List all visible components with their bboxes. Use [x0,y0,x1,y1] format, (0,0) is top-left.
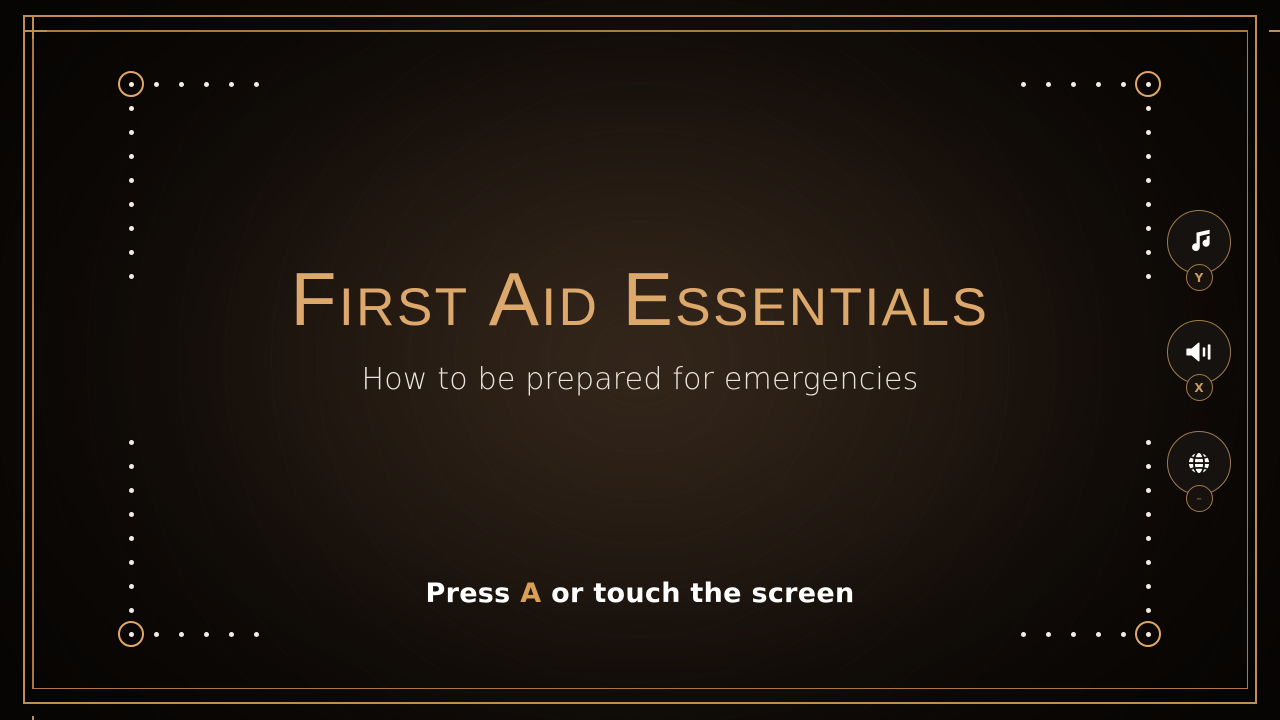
page-title: First Aid Essentials [0,262,1280,337]
dot-row-top-left-dot [254,82,259,87]
frame-outer-right-line [1255,15,1257,704]
dot-col-top-left-dot [129,130,134,135]
dot-col-bottom-left-dot [129,536,134,541]
press-start-prompt: Press A or touch the screen [0,578,1280,609]
dot-col-bottom-left-dot [129,512,134,517]
dot-col-top-right-dot [1146,202,1151,207]
dot-row-bottom-right-dot [1046,632,1051,637]
globe-icon [1184,448,1214,478]
speaker-volume-icon [1184,337,1214,367]
frame-inner-right-line [1247,30,1249,689]
dot-row-bottom-left-dot [154,632,159,637]
page-subtitle: How to be prepared for emergencies [0,362,1280,397]
frame-outer-top-line [23,15,1257,17]
dot-col-top-left-dot [129,154,134,159]
dot-col-top-right-dot [1146,274,1151,279]
background-ring-texture [0,0,1280,720]
ring-dot-top-left [129,82,134,87]
dot-row-bottom-left-dot [229,632,234,637]
title-screen[interactable]: First Aid Essentials How to be prepared … [0,0,1280,720]
music-note-icon [1184,227,1214,257]
dot-col-bottom-left-dot [129,608,134,613]
dot-row-top-left-dot [154,82,159,87]
frame-outer-left-line [23,15,25,704]
dot-row-bottom-left-dot [179,632,184,637]
dot-row-top-right-dot [1096,82,1101,87]
dot-row-bottom-left-dot [254,632,259,637]
dot-row-top-right-dot [1071,82,1076,87]
dot-col-top-right-dot [1146,106,1151,111]
dot-col-bottom-right-dot [1146,608,1151,613]
music-toggle-key-badge: Y [1186,264,1213,291]
prompt-key-a: A [520,578,541,609]
dot-col-top-right-dot [1146,226,1151,231]
dot-col-bottom-right-dot [1146,464,1151,469]
background-vignette [0,0,1280,720]
dot-col-top-left-dot [129,250,134,255]
dot-row-top-left-dot [179,82,184,87]
frame-corner-top-right [1257,15,1280,51]
frame-corner-bottom-right [1257,704,1280,720]
dot-col-top-right-dot [1146,250,1151,255]
language-select-key-badge: – [1186,485,1213,512]
dot-col-bottom-left-dot [129,584,134,589]
dot-row-top-left-dot [229,82,234,87]
dot-row-bottom-right-dot [1096,632,1101,637]
ring-dot-top-right [1146,82,1151,87]
dot-row-top-right-dot [1046,82,1051,87]
dot-row-top-right-dot [1021,82,1026,87]
dot-col-bottom-right-dot [1146,488,1151,493]
dot-col-top-left-dot [129,178,134,183]
dot-col-bottom-right-dot [1146,440,1151,445]
dot-col-bottom-right-dot [1146,584,1151,589]
prompt-suffix: or touch the screen [541,578,854,609]
dot-col-top-right-dot [1146,130,1151,135]
frame-inner-bottom-line [32,688,1248,690]
dot-row-bottom-right-dot [1021,632,1026,637]
dot-col-top-left-dot [129,226,134,231]
dot-col-bottom-right-dot [1146,512,1151,517]
dot-col-bottom-left-dot [129,464,134,469]
ring-dot-bottom-left [129,632,134,637]
frame-corner-top-left [23,15,59,51]
dot-col-top-left-dot [129,106,134,111]
frame-corner-bottom-left [23,704,59,720]
dot-col-top-right-dot [1146,178,1151,183]
dot-col-top-left-dot [129,202,134,207]
ring-dot-bottom-right [1146,632,1151,637]
dot-row-top-right-dot [1121,82,1126,87]
title-text-block: First Aid Essentials How to be prepared … [0,0,1280,720]
frame-outer-bottom-line [23,702,1257,704]
dot-col-bottom-right-dot [1146,536,1151,541]
dot-row-bottom-right-dot [1071,632,1076,637]
frame-inner-top-line [32,30,1248,32]
dot-row-bottom-left-dot [204,632,209,637]
dot-col-top-left-dot [129,274,134,279]
dot-row-bottom-right-dot [1121,632,1126,637]
dot-col-top-right-dot [1146,154,1151,159]
dot-col-bottom-left-dot [129,440,134,445]
prompt-prefix: Press [425,578,520,609]
dot-col-bottom-left-dot [129,488,134,493]
sound-toggle-key-badge: X [1186,374,1213,401]
dot-col-bottom-left-dot [129,560,134,565]
dot-col-bottom-right-dot [1146,560,1151,565]
frame-inner-left-line [32,30,34,689]
dot-row-top-left-dot [204,82,209,87]
